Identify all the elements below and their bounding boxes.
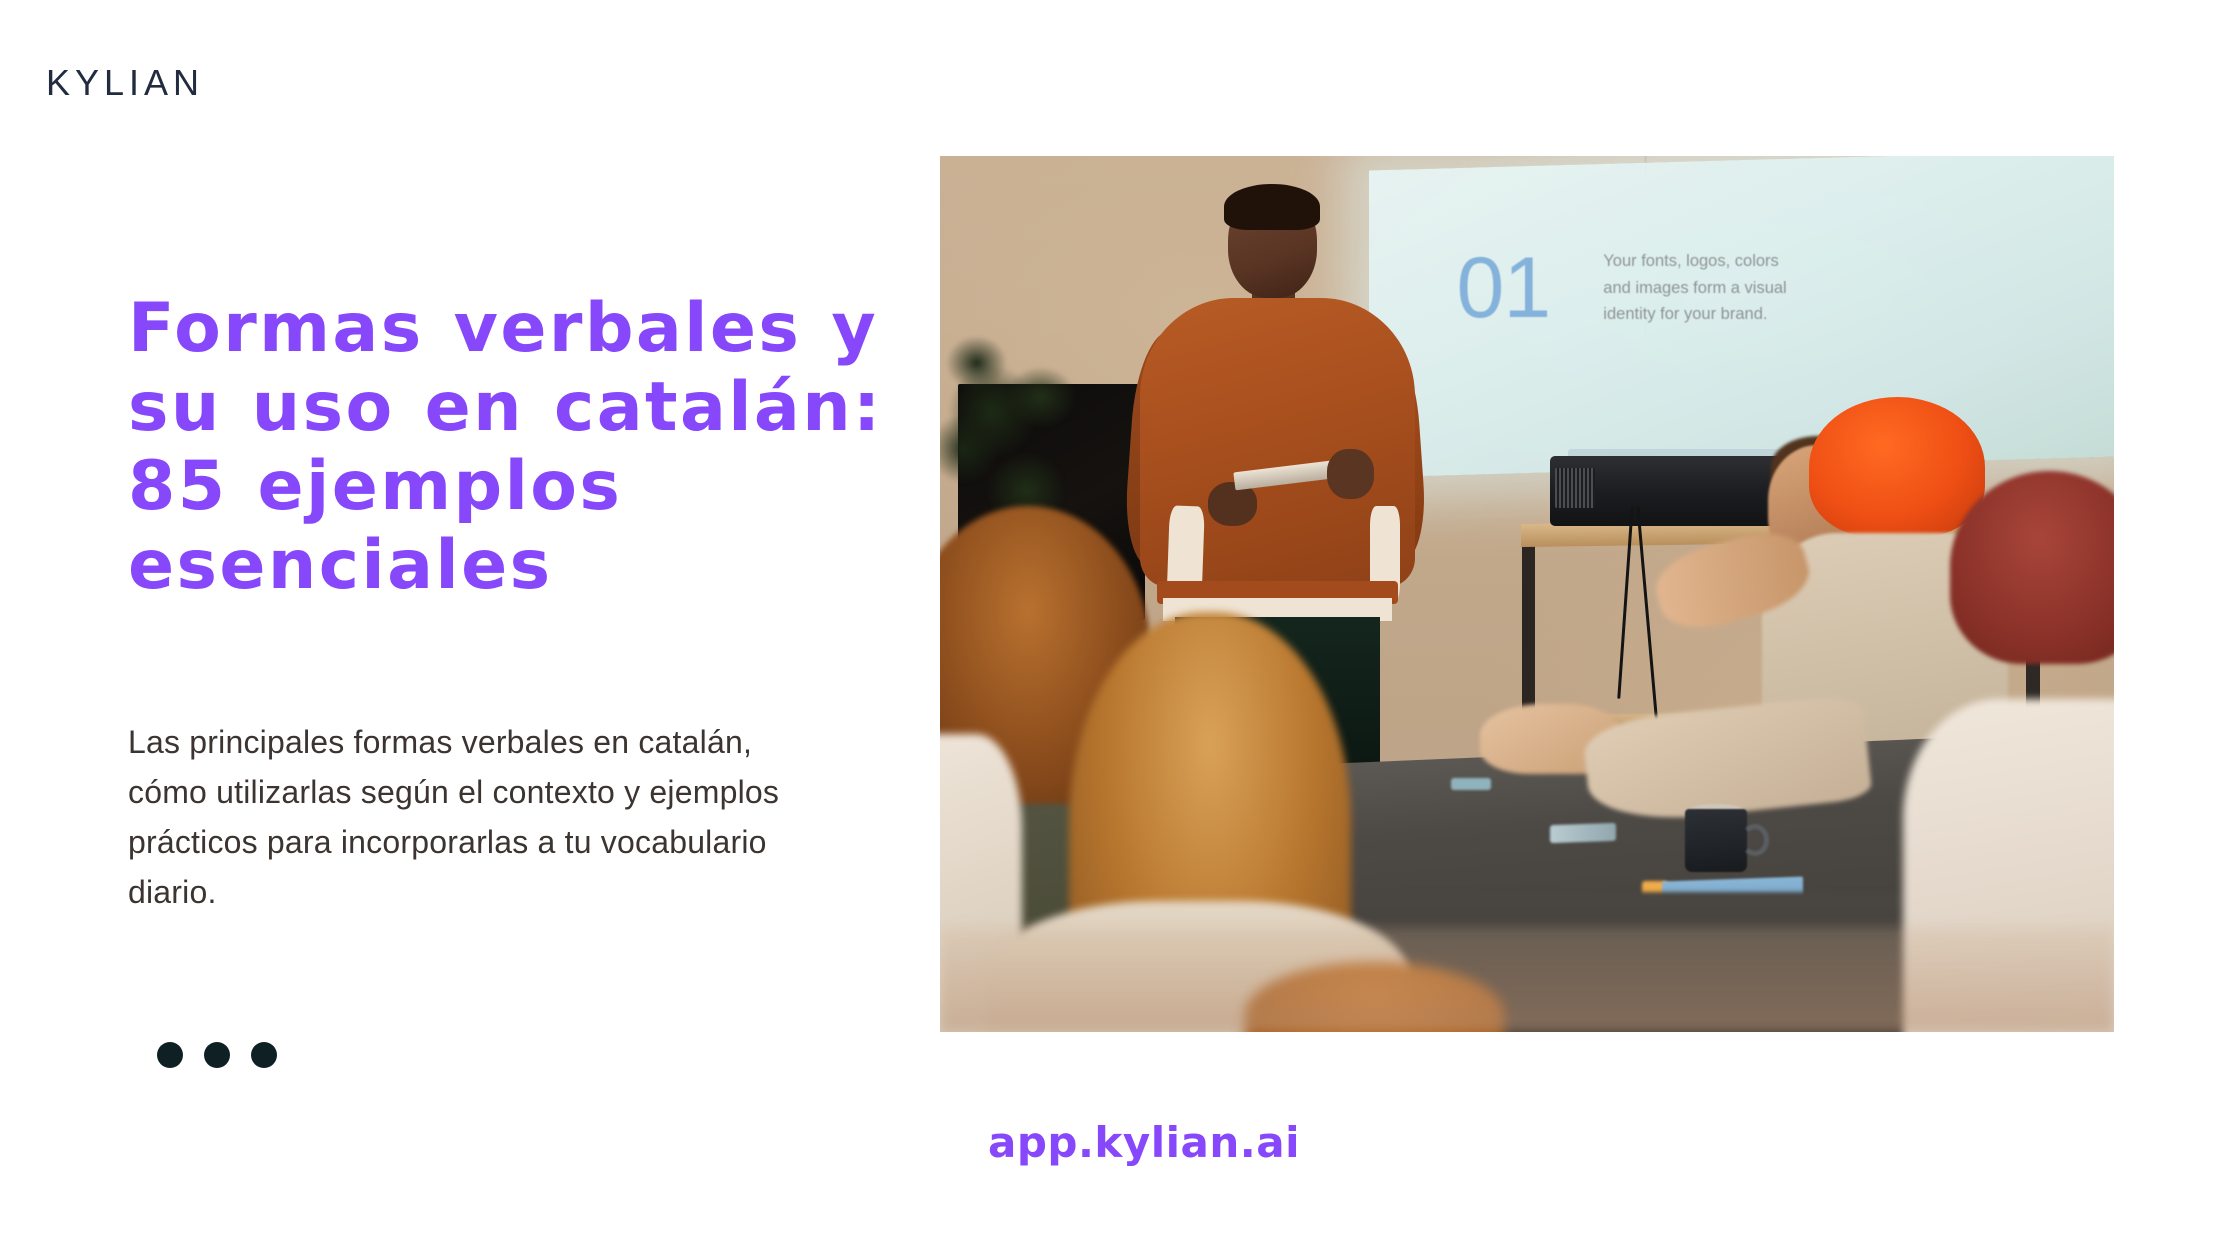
presenter-hand-right xyxy=(1327,449,1374,498)
phone-on-table xyxy=(1550,822,1616,842)
decorative-dots xyxy=(157,1042,277,1068)
dot-icon xyxy=(204,1042,230,1068)
brand-logo: KYLIAN xyxy=(46,62,204,104)
orange-beanie xyxy=(1809,397,1985,537)
slide-root: KYLIAN Formas verbales y su uso en catal… xyxy=(0,0,2240,1260)
article-summary: Las principales formas verbales en catal… xyxy=(128,718,818,918)
text-column: Formas verbales y su uso en catalán: 85 … xyxy=(128,290,888,606)
slide-number: 01 xyxy=(1457,239,1551,338)
phone-secondary xyxy=(1451,778,1491,790)
dot-icon xyxy=(251,1042,277,1068)
site-url[interactable]: app.kylian.ai xyxy=(988,1118,1300,1167)
dot-icon xyxy=(157,1042,183,1068)
hero-photo: 01 Your fonts, logos, colors and images … xyxy=(940,156,2114,1032)
mug-handle xyxy=(1741,824,1769,856)
presenter-hair xyxy=(1224,184,1320,230)
coffee-mug xyxy=(1685,809,1746,872)
presenter-hand-left xyxy=(1208,482,1257,526)
slide-body-text: Your fonts, logos, colors and images for… xyxy=(1603,248,1791,328)
page-title: Formas verbales y su uso en catalán: 85 … xyxy=(128,290,888,606)
projector-vent xyxy=(1555,468,1595,508)
bottom-depth-blur xyxy=(940,927,2114,1032)
